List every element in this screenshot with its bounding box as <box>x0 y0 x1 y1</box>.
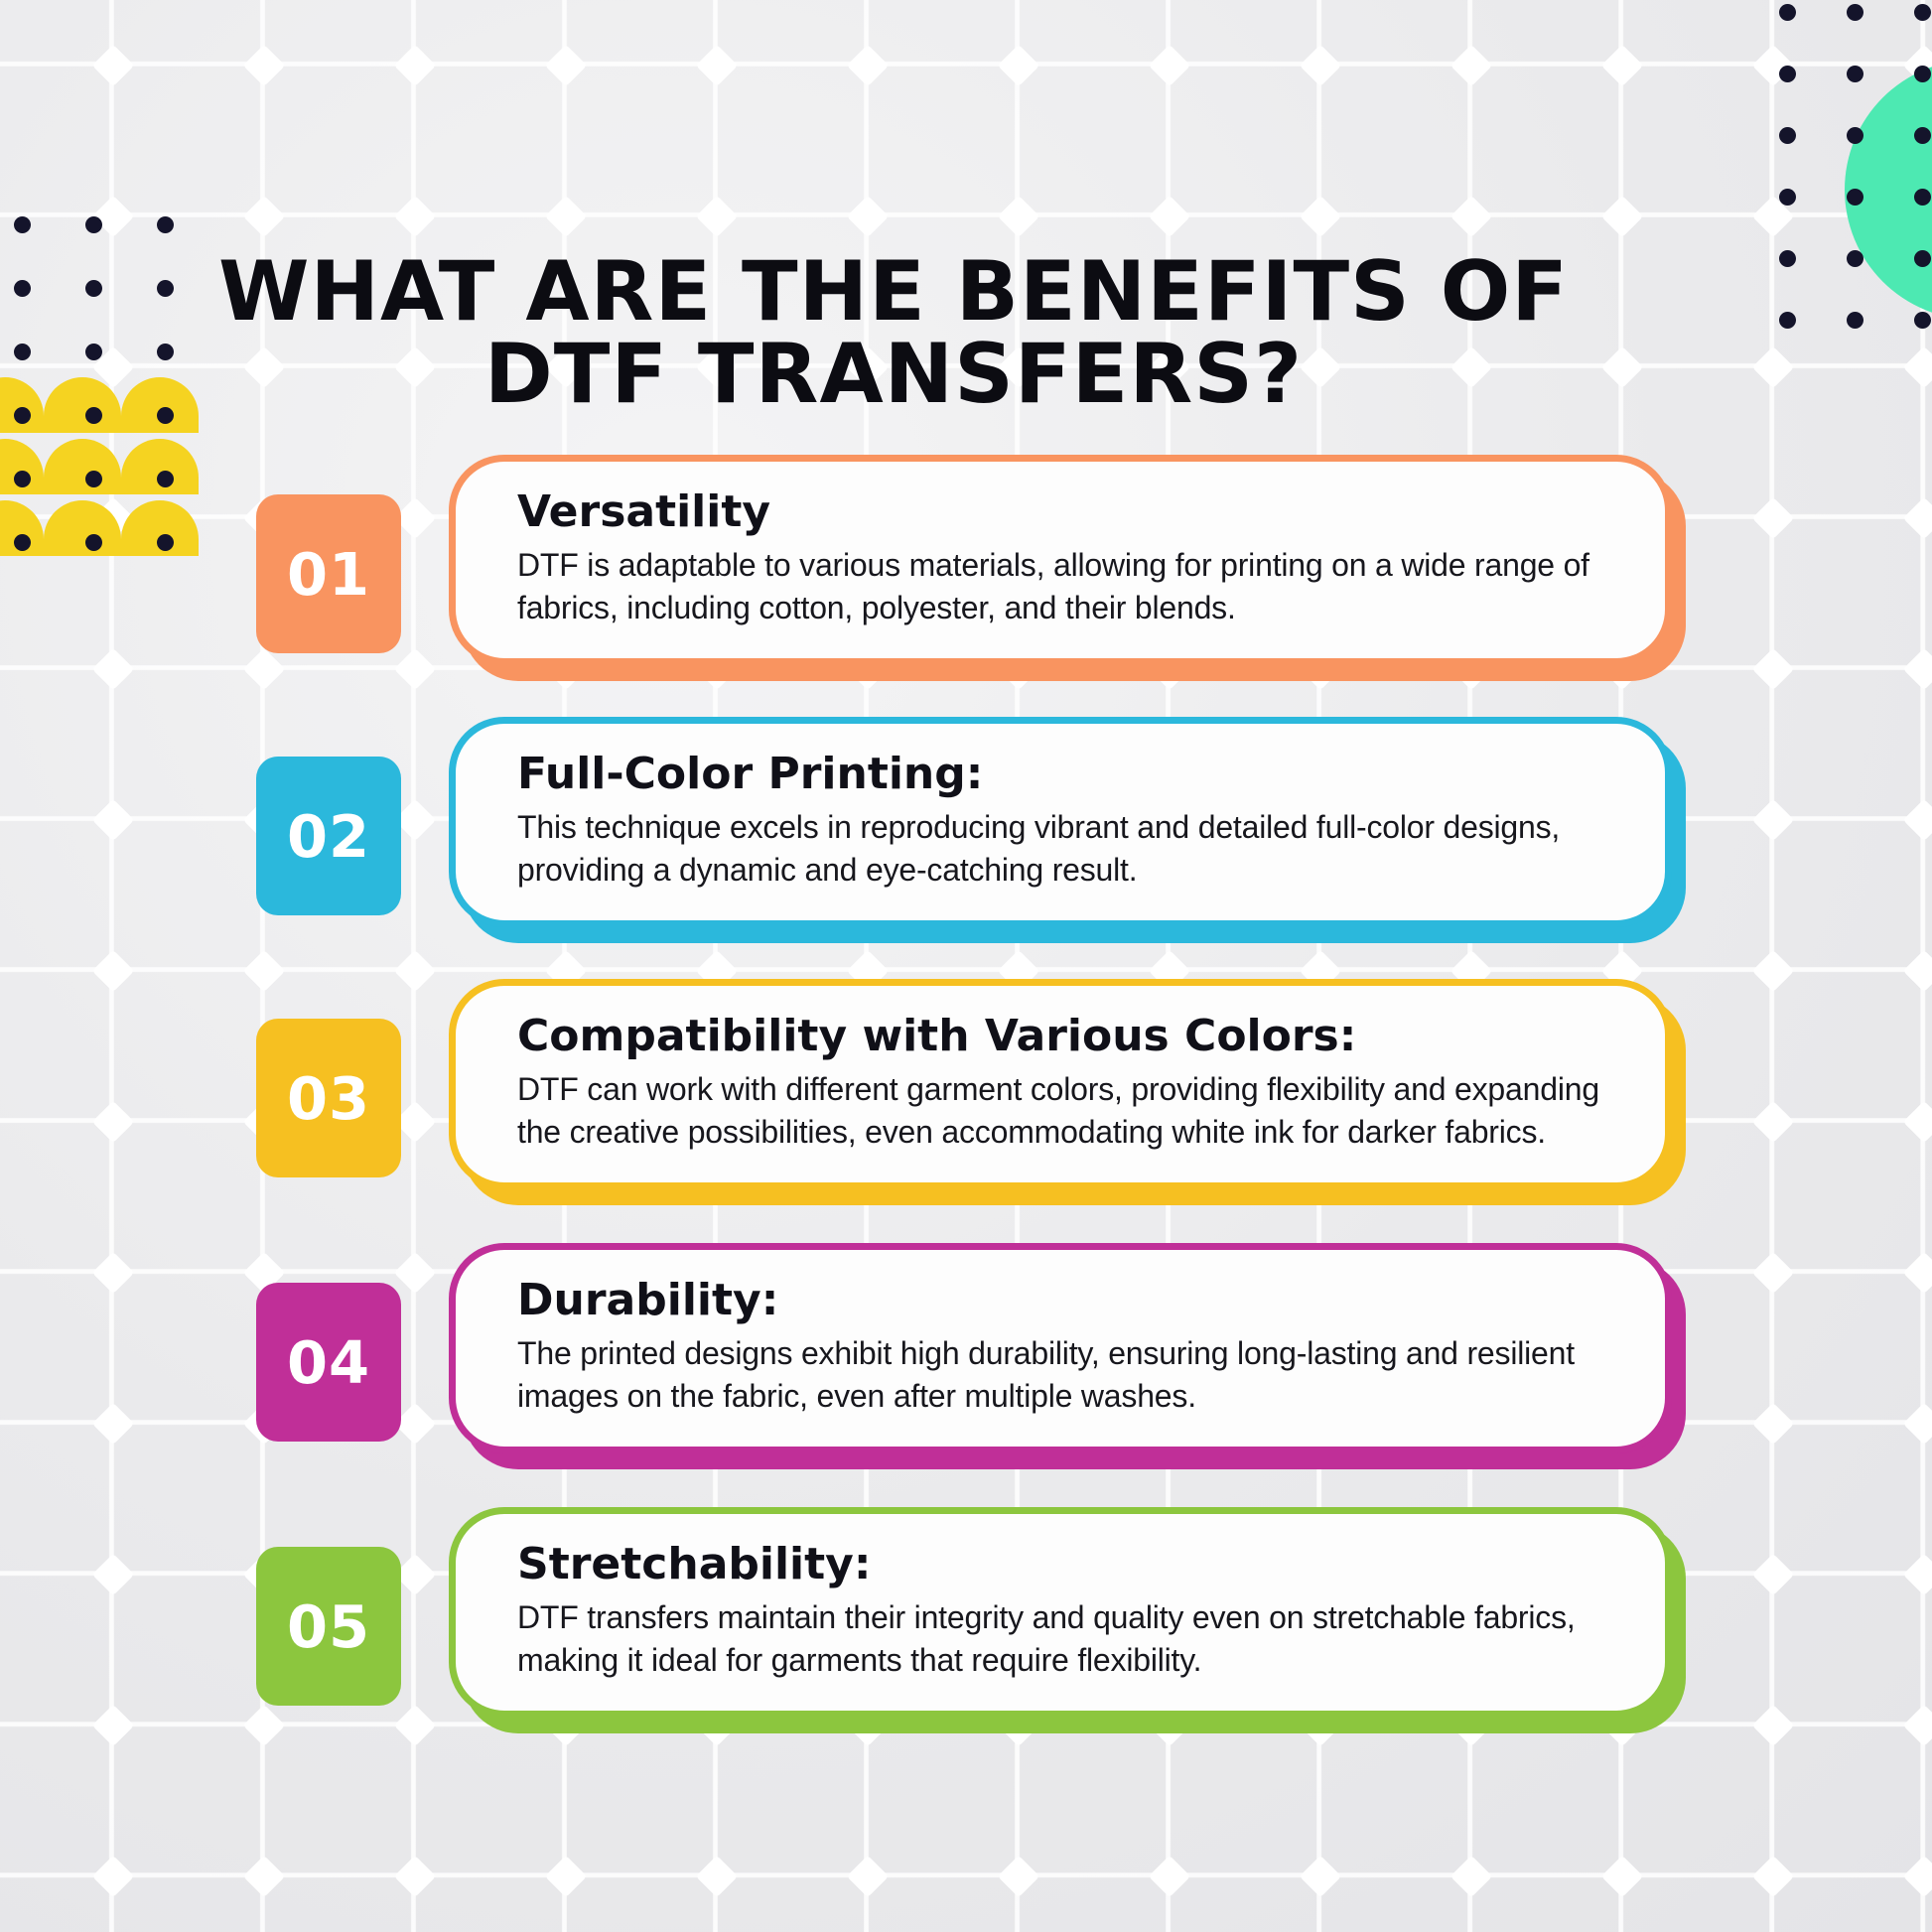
benefit-row: 03Compatibility with Various Colors:DTF … <box>0 979 1932 1215</box>
decor-dot <box>85 344 102 360</box>
grid-diamond <box>92 346 134 388</box>
benefit-body-text: This technique excels in reproducing vib… <box>517 806 1607 891</box>
grid-diamond <box>545 196 587 237</box>
decor-dot <box>14 280 31 297</box>
benefit-row: 04Durability:The printed designs exhibit… <box>0 1243 1932 1479</box>
grid-diamond <box>696 1856 738 1897</box>
infographic-canvas: WHAT ARE THE BENEFITS OF DTF TRANSFERS? … <box>0 0 1932 1932</box>
grid-diamond <box>1450 45 1492 86</box>
benefit-row: 05Stretchability:DTF transfers maintain … <box>0 1507 1932 1743</box>
grid-diamond <box>1300 196 1341 237</box>
grid-diamond <box>1752 196 1794 237</box>
grid-diamond <box>394 45 436 86</box>
dot-grid-left <box>14 216 212 475</box>
benefit-body-text: DTF can work with different garment colo… <box>517 1068 1607 1153</box>
grid-diamond <box>243 196 285 237</box>
grid-diamond <box>1752 45 1794 86</box>
grid-diamond <box>1149 196 1190 237</box>
benefit-card: Compatibility with Various Colors:DTF ca… <box>449 979 1672 1189</box>
decor-dot <box>85 407 102 424</box>
benefit-row: 02Full-Color Printing:This technique exc… <box>0 717 1932 953</box>
decor-dot <box>14 407 31 424</box>
grid-diamond <box>1450 196 1492 237</box>
grid-diamond <box>998 45 1039 86</box>
grid-diamond <box>1903 346 1932 388</box>
decor-dot <box>1779 66 1796 82</box>
grid-diamond <box>1601 346 1643 388</box>
grid-diamond <box>1149 45 1190 86</box>
benefit-number-badge: 04 <box>256 1283 401 1442</box>
decor-dot <box>14 344 31 360</box>
decor-dot <box>85 280 102 297</box>
benefit-card: VersatilityDTF is adaptable to various m… <box>449 455 1672 665</box>
decor-dot <box>1914 312 1931 329</box>
decor-dot <box>1779 4 1796 21</box>
grid-diamond <box>394 196 436 237</box>
grid-diamond <box>92 45 134 86</box>
grid-diamond <box>1601 45 1643 86</box>
benefit-card-wrapper: Full-Color Printing:This technique excel… <box>449 717 1672 927</box>
grid-diamond <box>1300 45 1341 86</box>
grid-diamond <box>1752 346 1794 388</box>
grid-diamond <box>1149 1856 1190 1897</box>
grid-diamond <box>998 196 1039 237</box>
grid-diamond <box>696 45 738 86</box>
decor-arch <box>121 377 199 433</box>
benefit-card: Stretchability:DTF transfers maintain th… <box>449 1507 1672 1718</box>
benefit-heading: Stretchability: <box>517 1540 1607 1588</box>
benefit-card-wrapper: Durability:The printed designs exhibit h… <box>449 1243 1672 1453</box>
grid-diamond <box>92 1856 134 1897</box>
decor-dot <box>1914 4 1931 21</box>
benefit-heading: Durability: <box>517 1276 1607 1324</box>
grid-diamond <box>394 1856 436 1897</box>
grid-diamond <box>847 196 889 237</box>
grid-diamond <box>1903 1856 1932 1897</box>
decor-arch <box>44 377 121 433</box>
decor-dot <box>1779 312 1796 329</box>
grid-diamond <box>1601 1856 1643 1897</box>
decor-dot <box>85 216 102 233</box>
benefit-heading: Compatibility with Various Colors: <box>517 1012 1607 1060</box>
grid-diamond <box>847 45 889 86</box>
benefit-card: Durability:The printed designs exhibit h… <box>449 1243 1672 1453</box>
decor-dot <box>1847 312 1863 329</box>
benefit-body-text: The printed designs exhibit high durabil… <box>517 1332 1607 1417</box>
decor-dot <box>1847 66 1863 82</box>
benefit-number-badge: 01 <box>256 494 401 653</box>
benefit-heading: Full-Color Printing: <box>517 750 1607 798</box>
benefit-body-text: DTF transfers maintain their integrity a… <box>517 1596 1607 1681</box>
grid-diamond <box>696 196 738 237</box>
grid-diamond <box>243 45 285 86</box>
decor-dot <box>157 216 174 233</box>
grid-diamond <box>545 1856 587 1897</box>
decor-dot <box>1779 250 1796 267</box>
grid-diamond <box>243 1856 285 1897</box>
benefit-number-badge: 02 <box>256 757 401 915</box>
decor-dot <box>157 280 174 297</box>
decor-dot <box>157 407 174 424</box>
decor-dot <box>14 216 31 233</box>
decor-arch <box>0 377 44 433</box>
page-title: WHAT ARE THE BENEFITS OF DTF TRANSFERS? <box>189 250 1598 415</box>
benefit-card-wrapper: VersatilityDTF is adaptable to various m… <box>449 455 1672 665</box>
benefit-card-wrapper: Compatibility with Various Colors:DTF ca… <box>449 979 1672 1189</box>
decor-dot <box>1847 4 1863 21</box>
benefit-number-badge: 05 <box>256 1547 401 1706</box>
grid-diamond <box>92 196 134 237</box>
benefit-card: Full-Color Printing:This technique excel… <box>449 717 1672 927</box>
grid-diamond <box>545 45 587 86</box>
green-circle-accent <box>1845 60 1932 320</box>
grid-diamond <box>1601 196 1643 237</box>
decor-dot <box>157 344 174 360</box>
benefit-card-wrapper: Stretchability:DTF transfers maintain th… <box>449 1507 1672 1718</box>
grid-diamond <box>1300 1856 1341 1897</box>
benefit-row: 01VersatilityDTF is adaptable to various… <box>0 455 1932 691</box>
benefit-heading: Versatility <box>517 487 1607 536</box>
grid-diamond <box>847 1856 889 1897</box>
grid-diamond <box>1752 1856 1794 1897</box>
grid-diamond <box>1450 1856 1492 1897</box>
decor-dot <box>1779 189 1796 206</box>
grid-diamond <box>998 1856 1039 1897</box>
decor-dot <box>1779 127 1796 144</box>
benefit-number-badge: 03 <box>256 1019 401 1177</box>
benefit-body-text: DTF is adaptable to various materials, a… <box>517 544 1607 628</box>
